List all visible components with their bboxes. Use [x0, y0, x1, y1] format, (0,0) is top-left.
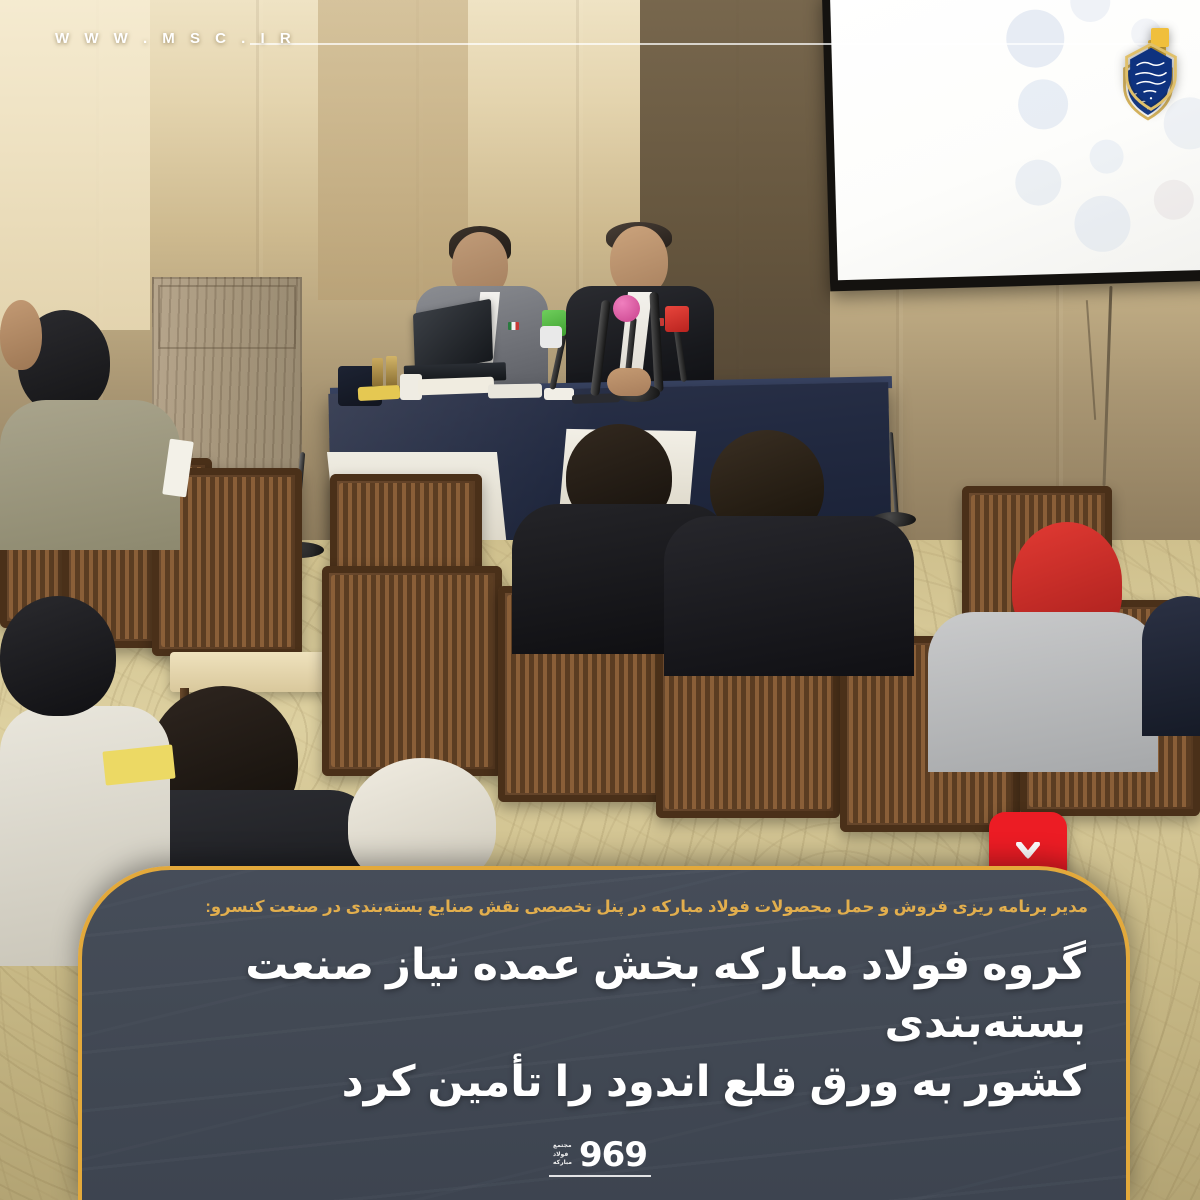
audience-chair — [322, 566, 502, 776]
audience-head — [0, 596, 116, 716]
headline-text: گروه فولاد مبارکه بخش عمده نیاز صنعت بست… — [122, 936, 1086, 1111]
bokeh-circle — [1005, 9, 1065, 69]
audience-body — [0, 400, 180, 550]
headline-line-2: کشور به ورق قلع اندود را تأمین کرد — [122, 1053, 1086, 1111]
held-paper — [102, 744, 175, 785]
mic-green — [540, 300, 570, 400]
bokeh-circle — [1070, 0, 1111, 23]
jahesh-tolid-badge-icon — [1122, 28, 1180, 146]
news-card-poster: W W W . M S C . I R — [0, 0, 1200, 1200]
site-url: W W W . M S C . I R — [55, 30, 296, 47]
chair-slats — [331, 575, 493, 767]
brand-subtitle: مجتمع فولاد مبارکه — [553, 1143, 572, 1168]
header-divider — [250, 43, 1180, 45]
audience-body — [664, 516, 914, 676]
bokeh-circle — [1153, 179, 1194, 220]
mic-head — [613, 295, 640, 322]
kicker-text: مدیر برنامه ریزی فروش و حمل محصولات فولا… — [202, 894, 1088, 920]
brand-underline — [549, 1175, 651, 1177]
wall-panel-mid — [318, 0, 468, 300]
audience-head — [0, 300, 42, 370]
desk-box — [488, 384, 542, 399]
brand-sub-line-1: مجتمع — [553, 1143, 572, 1151]
water-bottle — [386, 356, 397, 386]
audience-body — [928, 612, 1158, 772]
brand-sub-line-3: مبارکه — [553, 1160, 572, 1168]
brand-mark: 969 — [579, 1140, 647, 1171]
water-bottle — [372, 358, 383, 386]
bokeh-circle — [1089, 139, 1124, 174]
mic-red — [665, 300, 693, 392]
right-speaker-hands — [607, 368, 651, 396]
desk-folder — [358, 385, 401, 401]
cabinet-door — [158, 285, 296, 349]
desk-papers — [418, 377, 495, 396]
bokeh-circle — [1015, 159, 1062, 206]
chair-slats — [161, 477, 293, 647]
brand-logo[interactable]: 969 مجتمع فولاد مبارکه — [545, 1135, 655, 1177]
bokeh-circle — [1017, 79, 1068, 130]
brand-sub-line-2: فولاد — [553, 1152, 568, 1160]
headline-line-1: گروه فولاد مبارکه بخش عمده نیاز صنعت بست… — [122, 936, 1086, 1053]
badge-hexagon — [1122, 42, 1180, 112]
audience-body — [1142, 596, 1200, 736]
mic-head — [540, 326, 562, 348]
bokeh-circle — [1074, 195, 1132, 253]
mic-flag — [665, 306, 689, 332]
chevron-down-icon — [1013, 842, 1043, 866]
wall-panel-light — [0, 0, 150, 330]
flag-pin-icon — [508, 322, 519, 330]
